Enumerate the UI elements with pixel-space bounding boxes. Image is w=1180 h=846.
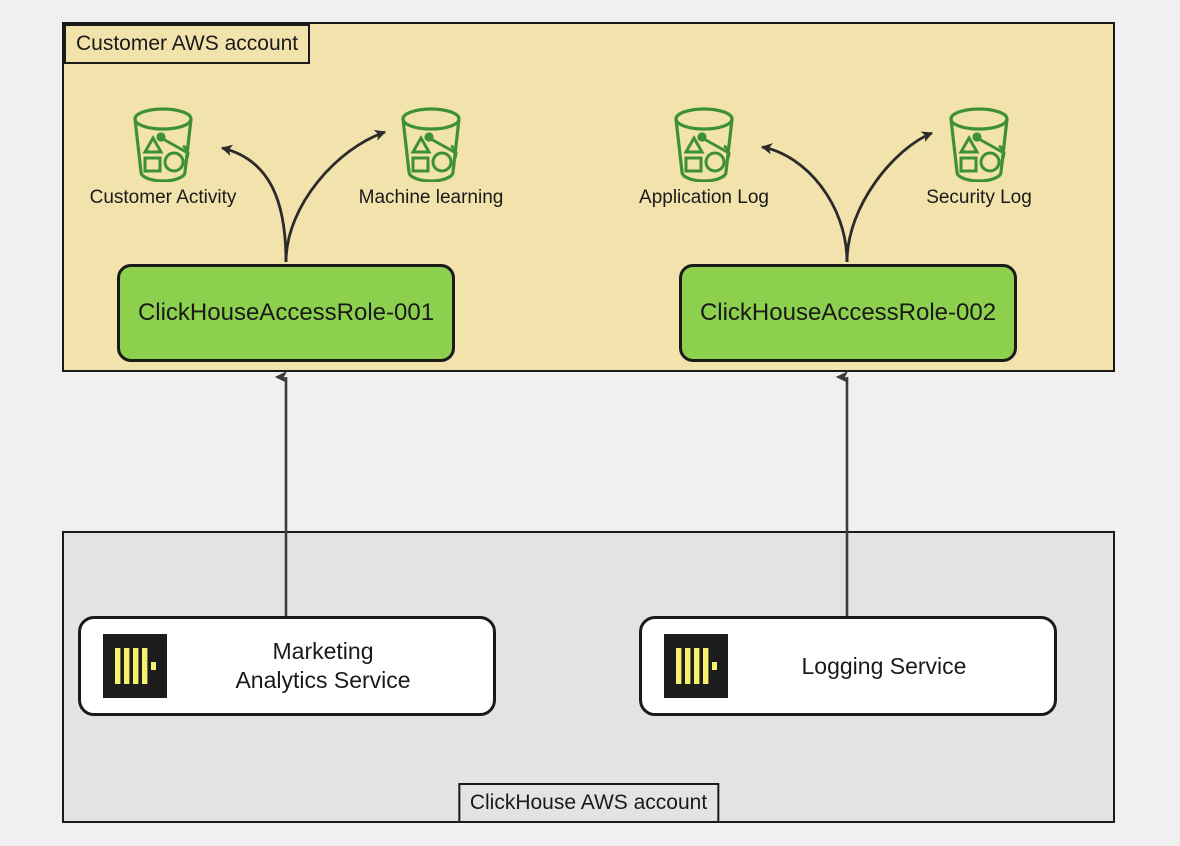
bucket-label-application-log: Application Log bbox=[614, 188, 794, 209]
service-box-logging[interactable]: Logging Service bbox=[639, 616, 1057, 716]
service-label-marketing-analytics: Marketing Analytics Service bbox=[167, 637, 493, 695]
s3-bucket-icon bbox=[117, 102, 209, 182]
s3-bucket-icon bbox=[658, 102, 750, 182]
clickhouse-logo-icon bbox=[103, 634, 167, 698]
bucket-node-machine-learning[interactable]: Machine learning bbox=[341, 102, 521, 209]
role-box-clickhouse-access-role-001[interactable]: ClickHouseAccessRole-001 bbox=[117, 264, 455, 362]
s3-bucket-icon bbox=[933, 102, 1025, 182]
clickhouse-logo-glyph bbox=[113, 646, 157, 686]
bucket-label-security-log: Security Log bbox=[889, 188, 1069, 209]
group-label-customer-aws-account: Customer AWS account bbox=[64, 24, 310, 64]
clickhouse-logo-icon bbox=[664, 634, 728, 698]
bucket-label-customer-activity: Customer Activity bbox=[73, 188, 253, 209]
s3-bucket-icon bbox=[385, 102, 477, 182]
service-label-logging: Logging Service bbox=[728, 652, 1054, 681]
bucket-node-customer-activity[interactable]: Customer Activity bbox=[73, 102, 253, 209]
bucket-node-security-log[interactable]: Security Log bbox=[889, 102, 1069, 209]
bucket-node-application-log[interactable]: Application Log bbox=[614, 102, 794, 209]
group-label-clickhouse-aws-account: ClickHouse AWS account bbox=[458, 783, 719, 823]
role-box-clickhouse-access-role-002[interactable]: ClickHouseAccessRole-002 bbox=[679, 264, 1017, 362]
service-box-marketing-analytics[interactable]: Marketing Analytics Service bbox=[78, 616, 496, 716]
diagram-canvas: Customer AWS account ClickHouse AWS acco… bbox=[0, 0, 1180, 846]
role-label-002: ClickHouseAccessRole-002 bbox=[700, 299, 996, 327]
role-label-001: ClickHouseAccessRole-001 bbox=[138, 299, 434, 327]
clickhouse-logo-glyph bbox=[674, 646, 718, 686]
bucket-label-machine-learning: Machine learning bbox=[341, 188, 521, 209]
